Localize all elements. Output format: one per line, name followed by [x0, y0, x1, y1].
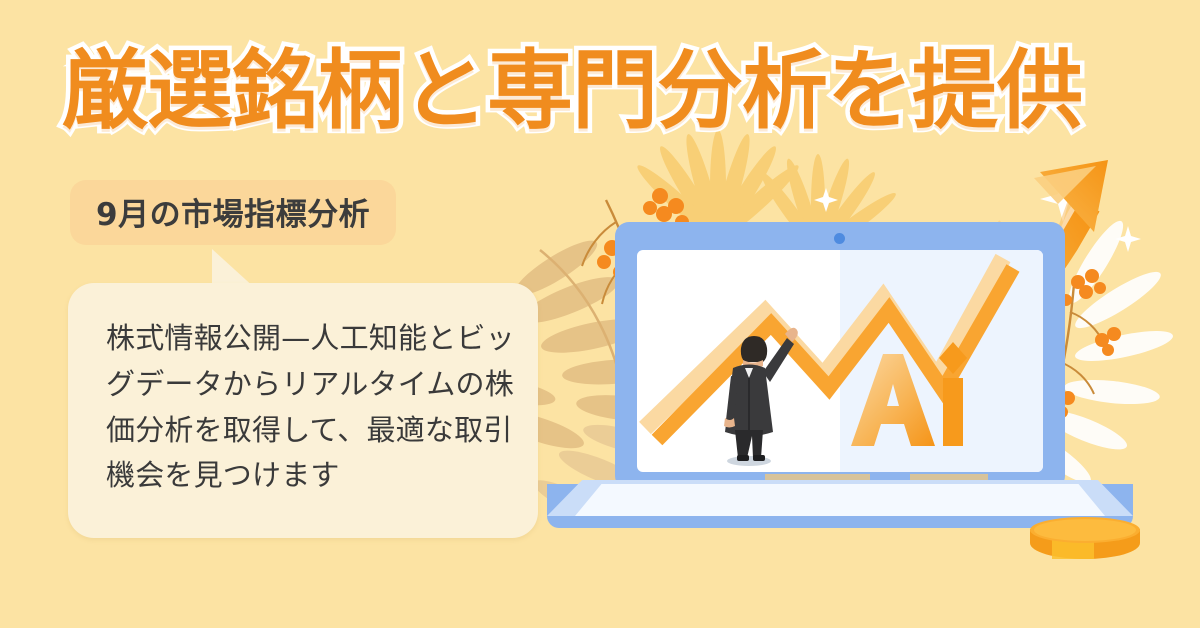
hinge-line-left [765, 474, 870, 481]
description-text: 株式情報公開—人工知能とビッグデータからリアルタイムの株価分析を取得して、最適な… [106, 316, 518, 499]
webcam-icon [834, 233, 845, 244]
screen-chart [637, 250, 1043, 472]
laptop-icon [615, 222, 1065, 552]
laptop-keyboard [575, 484, 1105, 516]
banner-root: 厳選銘柄と専門分析を提供 9月の市場指標分析 株式情報公開—人工知能とビッグデー… [0, 0, 1200, 628]
page-title: 厳選銘柄と専門分析を提供 [62, 48, 1082, 134]
laptop-screen [637, 250, 1043, 472]
hinge-line-right [910, 474, 988, 481]
laptop-lid [615, 222, 1065, 490]
coin-top-inner [1034, 519, 1136, 541]
gold-coin-icon [1030, 517, 1140, 567]
ai-logo-icon [851, 342, 967, 446]
subtitle-badge: 9月の市場指標分析 [70, 180, 396, 245]
